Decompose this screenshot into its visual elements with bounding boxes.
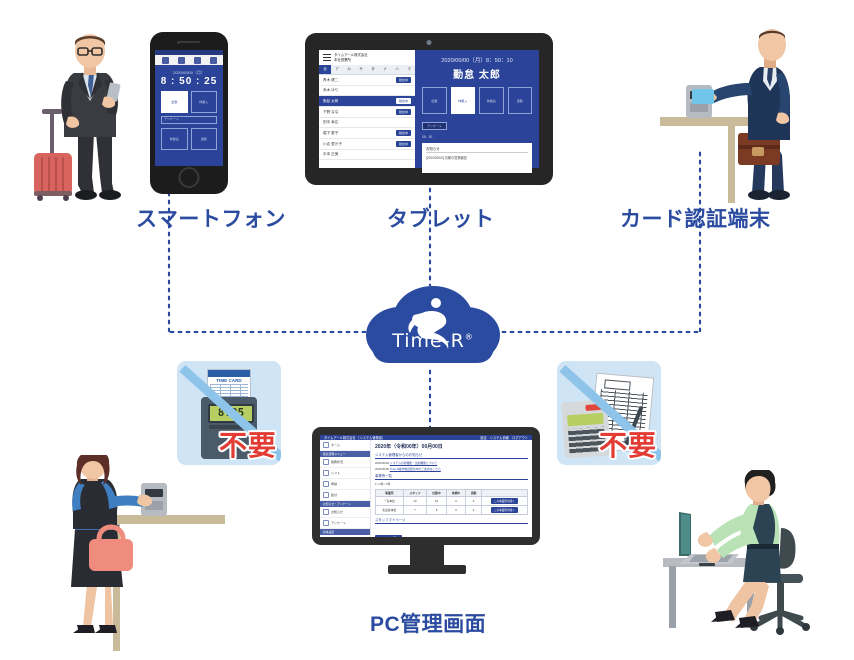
staff-name: 田中 幸広 (323, 120, 338, 125)
person-woman-at-laptop (655, 470, 850, 655)
monitor-stand (410, 545, 444, 565)
caption-card-reader: カード認証端末 (620, 203, 771, 233)
pc-page-title: 2020年（令和00年）00月00日 (375, 443, 528, 450)
staff-name: 赤木 ゆり (323, 88, 338, 93)
phone-button-grid-2: 休憩戻 退勤 (155, 124, 223, 150)
tablet-employee-name: 勤怠 太郎 (422, 66, 532, 81)
table-row: 一宮本社 13 10 0 3 この事業所を開く (376, 496, 528, 505)
time-card-header (208, 370, 250, 377)
staff-name: 勤怠 太郎 (323, 99, 338, 104)
col-office: 事業所 (376, 489, 404, 496)
time-card-label: TIME CARD (208, 378, 250, 383)
kana-tab-sa[interactable]: サ (355, 65, 367, 74)
phone-camera-icon (177, 41, 180, 44)
phone-nav-icon-4[interactable] (210, 57, 217, 64)
hamburger-menu-icon[interactable] (323, 54, 331, 61)
person-businessman-tapping-card (660, 25, 850, 210)
phone-nav-icon-1[interactable] (162, 57, 169, 64)
person-businessman-with-suitcase (20, 25, 145, 215)
phone-punch-button-kyukei-in[interactable]: 休憩入 (191, 91, 218, 113)
person-woman-tapping-reader (55, 455, 235, 660)
staff-row[interactable]: 青木 健二 勤怠中 (319, 75, 415, 86)
staff-action-badge[interactable]: 勤怠中 (396, 77, 411, 83)
staff-row[interactable]: 堀下 恵子 勤怠中 (319, 128, 415, 139)
staff-row[interactable]: 田中 幸広 (319, 118, 415, 128)
tablet-punch-panel: 2020/00/00（月）8：50：10 勤怠 太郎 出勤 休憩入 休憩戻 退勤… (415, 50, 539, 168)
phone-clock: 8 : 50 : 25 (155, 76, 223, 87)
sidebar-item-request[interactable]: 申請 (320, 479, 370, 490)
tablet-punch-buttons: 出勤 休憩入 休憩戻 退勤 (422, 87, 532, 114)
connector-horizontal-right (500, 330, 700, 334)
phone-punch-button-shukkin[interactable]: 出勤 (161, 91, 188, 113)
col-break: 休憩中 (446, 489, 466, 496)
calendar-icon (323, 470, 329, 476)
cloud-service: Time-R® (358, 283, 508, 373)
tablet-punch-button-shukkin[interactable]: 出勤 (422, 87, 447, 114)
pc-section-mypage: スタッフマイページ (375, 517, 528, 524)
pc-main-content: 2020年（令和00年）00月00日 システム管理者からのお知らせ 2020/0… (371, 440, 532, 537)
staff-name: 堀下 恵子 (323, 131, 338, 136)
home-icon (323, 442, 329, 448)
tablet-company-name: タイムアール株式会社 本社営業所 (334, 53, 368, 62)
tablet-punch-button-taikin[interactable]: 退勤 (508, 87, 533, 114)
pc-section-offices: 事業所一覧 (375, 473, 528, 480)
caption-tablet: タブレット (387, 203, 495, 233)
phone-punch-button-taikin[interactable]: 退勤 (191, 128, 218, 150)
open-mypage-button[interactable]: マイページを開く (375, 535, 402, 537)
pc-section-news: システム管理者からのお知らせ (375, 452, 528, 459)
doc-icon (323, 481, 329, 487)
tablet-device: タイムアール株式会社 本社営業所 全 ア カ サ タ ナ ハ マ 青木 健二 勤… (305, 33, 553, 185)
cloud-label: Time-R® (358, 330, 508, 352)
staff-name: 川合 里沙子 (323, 142, 342, 147)
tablet-notice-title: お知らせ (426, 146, 528, 153)
phone-punch-button-kyukei-back[interactable]: 休憩戻 (161, 128, 188, 150)
pc-monitor-device: タイムアール株式会社 ［システム管理者］ 設定 システム情報 ログアウト ホーム… (312, 427, 540, 545)
staff-row[interactable]: 赤木 ゆり (319, 86, 415, 96)
clock-icon (323, 459, 329, 465)
tablet-notice-card: お知らせ [2020/00/00] 月曜の営業報告 (422, 143, 532, 173)
tablet-datetime: 2020/00/00（月）8：50：10 (422, 56, 532, 64)
sidebar-item-summary[interactable]: 集計 (320, 490, 370, 501)
pc-news-item[interactable]: 2020/00/00 システムの新機能・追加機能について (375, 461, 528, 465)
pc-body: ホーム 勤怠管理メニュー 勤務状況 シフト 申請 (320, 440, 532, 537)
caption-pc-admin: PC管理画面 (370, 608, 486, 638)
sidebar-item-office[interactable]: 事業所 (320, 535, 370, 537)
phone-nav-icon-3[interactable] (194, 57, 201, 64)
connector-vertical-tablet (428, 186, 432, 286)
tablet-camera-icon (427, 40, 432, 45)
col-working: 出勤中 (427, 489, 447, 496)
kana-tab-a[interactable]: ア (331, 65, 343, 74)
kana-tab-na[interactable]: ナ (379, 65, 391, 74)
staff-row-selected[interactable]: 勤怠 太郎 勤怠中 (319, 96, 415, 107)
col-staff: スタッフ (403, 489, 427, 496)
kana-tab-ta[interactable]: タ (367, 65, 379, 74)
cloud-shape (358, 283, 508, 373)
phone-icon-bar (155, 55, 223, 65)
pc-result-count: 1～2件 / 2件 (375, 482, 528, 486)
pc-screen: タイムアール株式会社 ［システム管理者］ 設定 システム情報 ログアウト ホーム… (320, 435, 532, 537)
tablet-punch-button-kyukei-back[interactable]: 休憩戻 (479, 87, 504, 114)
phone-speaker (178, 41, 200, 43)
phone-nav-icon-2[interactable] (178, 57, 185, 64)
sidebar-item-shift[interactable]: シフト (320, 468, 370, 479)
not-needed-stamp: 不要 (599, 424, 657, 464)
pc-sidebar: ホーム 勤怠管理メニュー 勤務状況 シフト 申請 (320, 440, 371, 537)
not-needed-paper-panel: 不要 (557, 361, 661, 465)
staff-name: 下野 なな (323, 110, 338, 115)
tablet-punch-time: 08：50 (422, 134, 532, 139)
phone-button-grid: 出勤 休憩入 (155, 87, 223, 113)
monitor-base (388, 565, 466, 574)
sidebar-item-work-status[interactable]: 勤務状況 (320, 457, 370, 468)
sidebar-item-notice[interactable]: お知らせ (320, 507, 370, 518)
phone-survey-chip[interactable]: アンケート (161, 116, 217, 124)
ic-card-icon (692, 89, 714, 104)
smartphone-device: 2020/00/00（月） 8 : 50 : 25 出勤 休憩入 アンケート 休… (150, 32, 228, 194)
sidebar-item-home[interactable]: ホーム (320, 440, 370, 451)
staff-action-badge[interactable]: 勤怠中 (396, 141, 411, 147)
survey-icon (323, 520, 329, 526)
col-action (481, 489, 527, 496)
open-office-button[interactable]: この事業所を開く (491, 498, 518, 504)
tablet-notice-body: [2020/00/00] 月曜の営業報告 (426, 155, 528, 160)
staff-action-badge[interactable]: 勤怠中 (396, 109, 411, 115)
chart-icon (323, 492, 329, 498)
bell-icon (323, 509, 329, 515)
staff-row[interactable]: 川合 里沙子 勤怠中 (319, 139, 415, 150)
not-needed-timecard-panel: TIME CARD 8:25 不要 (177, 361, 281, 465)
tablet-punch-button-kyukei-in[interactable]: 休憩入 (451, 87, 476, 114)
kana-tab-ha[interactable]: ハ (391, 65, 403, 74)
tablet-header: タイムアール株式会社 本社営業所 (319, 50, 415, 65)
connector-vertical-pc (428, 368, 432, 428)
tablet-kana-tabs: 全 ア カ サ タ ナ ハ マ (319, 65, 415, 75)
connector-horizontal-left (168, 330, 366, 334)
pc-office-table: 事業所 スタッフ 出勤中 休憩中 退勤 一宮本社 13 10 0 (375, 489, 528, 515)
staff-action-badge[interactable]: 勤怠中 (396, 130, 411, 136)
phone-screen: 2020/00/00（月） 8 : 50 : 25 出勤 休憩入 アンケート 休… (155, 50, 223, 166)
table-header-row: 事業所 スタッフ 出勤中 休憩中 退勤 (376, 489, 528, 496)
col-left: 退勤 (466, 489, 481, 496)
diagram-canvas: Time-R® 2020/00/00（月） 8 : 50 : 25 出勤 休憩入… (0, 0, 854, 660)
open-office-button[interactable]: この事業所を開く (491, 507, 518, 513)
staff-name: 青木 健二 (323, 78, 338, 83)
staff-name: 中本 正美 (323, 152, 338, 157)
staff-action-badge[interactable]: 勤怠中 (396, 98, 411, 104)
tablet-screen: タイムアール株式会社 本社営業所 全 ア カ サ タ ナ ハ マ 青木 健二 勤… (319, 50, 539, 168)
kana-tab-all[interactable]: 全 (319, 65, 331, 74)
kana-tab-ma[interactable]: マ (403, 65, 415, 74)
sidebar-item-survey[interactable]: アンケート (320, 518, 370, 529)
table-row: 名古屋本社 7 5 0 2 この事業所を開く (376, 505, 528, 514)
tablet-staff-list-panel: タイムアール株式会社 本社営業所 全 ア カ サ タ ナ ハ マ 青木 健二 勤… (319, 50, 415, 168)
phone-home-button[interactable] (179, 167, 200, 188)
kana-tab-ka[interactable]: カ (343, 65, 355, 74)
staff-row[interactable]: 中本 正美 (319, 150, 415, 160)
pc-news-item[interactable]: 2020/00/00 Time-R操作動画配信中のご案内はこちら (375, 467, 528, 471)
staff-row[interactable]: 下野 なな 勤怠中 (319, 107, 415, 118)
caption-smartphone: スマートフォン (136, 203, 286, 233)
tablet-survey-chip[interactable]: アンケート (422, 122, 447, 130)
